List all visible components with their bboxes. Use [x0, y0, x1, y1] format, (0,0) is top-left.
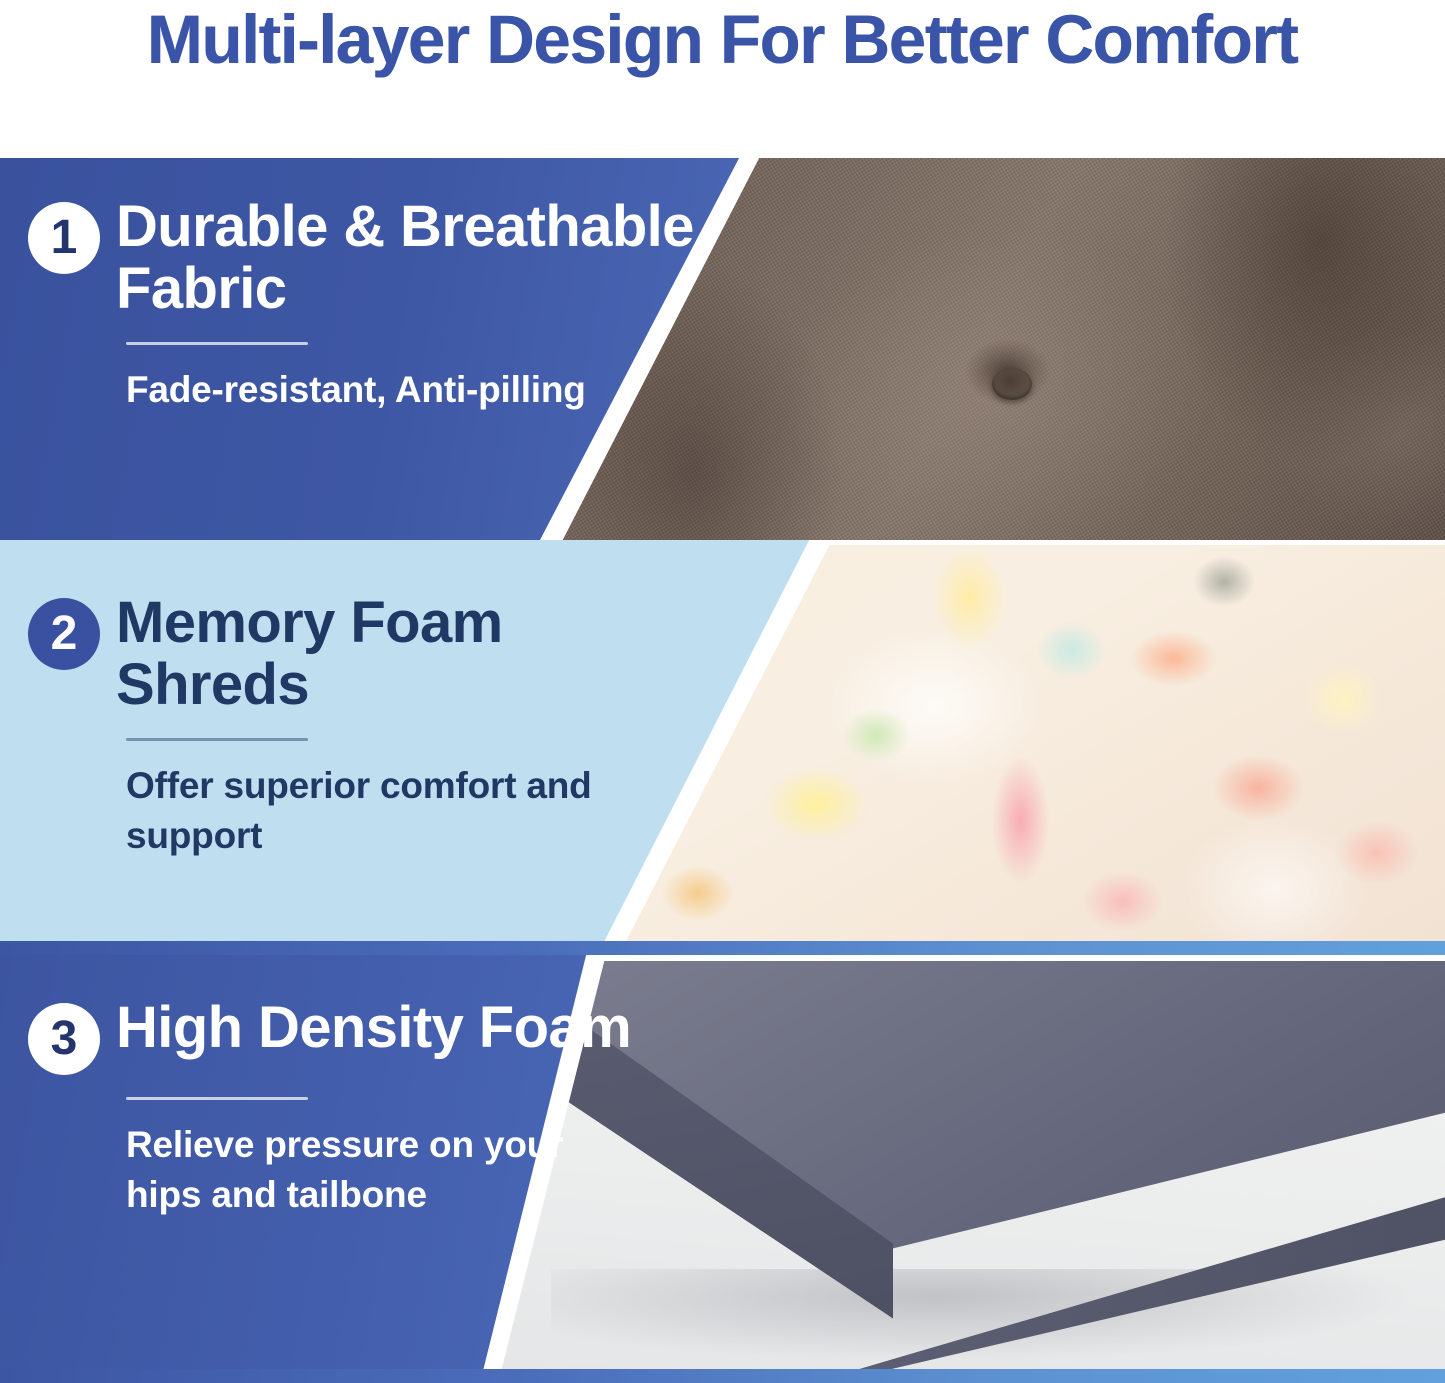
foam-shreds-photo	[580, 540, 1445, 955]
step-number-badge-1: 1	[28, 202, 100, 274]
step-number-badge-3: 3	[28, 1003, 100, 1075]
panel-3-title: High Density Foam	[116, 997, 631, 1059]
page-title: Multi-layer Design For Better Comfort	[147, 0, 1298, 78]
panel-1-divider	[126, 342, 308, 345]
feature-panel-1: 1 Durable & Breathable Fabric Fade-resis…	[0, 158, 1445, 540]
panel-1-title-row: 1 Durable & Breathable Fabric	[28, 196, 706, 320]
infographic-header: Multi-layer Design For Better Comfort	[0, 0, 1445, 158]
panel-3-title-row: 3 High Density Foam	[28, 997, 631, 1075]
panel-3-content: 3 High Density Foam Relieve pressure on …	[0, 955, 631, 1383]
panel-1-title: Durable & Breathable Fabric	[116, 196, 706, 320]
panel-2-content: 2 Memory Foam Shreds Offer superior comf…	[0, 540, 706, 955]
panel-2-subtitle: Offer superior comfort and support	[126, 761, 596, 861]
panel-1-content: 1 Durable & Breathable Fabric Fade-resis…	[0, 158, 706, 540]
panel-2-title-row: 2 Memory Foam Shreds	[28, 592, 706, 716]
bottom-accent-strip	[0, 1369, 1445, 1383]
step-number-badge-2: 2	[28, 598, 100, 670]
feature-panel-3: 3 High Density Foam Relieve pressure on …	[0, 955, 1445, 1383]
tufted-button-dimple	[992, 368, 1032, 400]
panel-separator-2	[0, 941, 1445, 955]
foam-block-image	[494, 961, 1445, 1377]
panel-3-subtitle: Relieve pressure on your hips and tailbo…	[126, 1120, 596, 1220]
panel-3-divider	[126, 1097, 308, 1100]
panel-1-subtitle: Fade-resistant, Anti-pilling	[126, 365, 596, 415]
feature-panel-2: 2 Memory Foam Shreds Offer superior comf…	[0, 540, 1445, 955]
panel-2-title: Memory Foam Shreds	[116, 592, 706, 716]
panel-2-divider	[126, 738, 308, 741]
